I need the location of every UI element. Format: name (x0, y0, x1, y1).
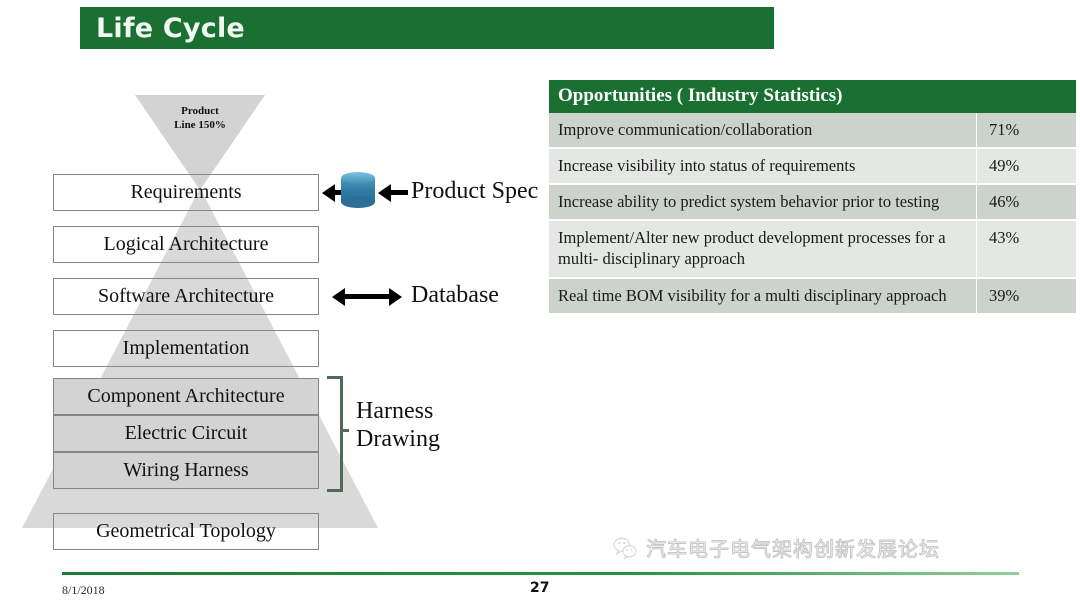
lifecycle-box-wiring-harness[interactable]: Wiring Harness (53, 452, 319, 489)
table-row[interactable]: Increase visibility into status of requi… (549, 148, 1076, 184)
table-cell-value: 43% (977, 220, 1077, 277)
slide-title-bar: Life Cycle (80, 7, 774, 49)
harness-drawing-label: Harness Drawing (356, 397, 440, 454)
lifecycle-box-component-architecture[interactable]: Component Architecture (53, 378, 319, 415)
harness-drawing-line1: Harness (356, 397, 440, 425)
opportunities-table: Opportunities ( Industry Statistics) Imp… (549, 80, 1076, 315)
arrow-double-right-head-icon (389, 288, 402, 306)
table-header-title: Opportunities ( Industry Statistics) (549, 80, 1076, 113)
database-label: Database (411, 281, 499, 309)
harness-drawing-line2: Drawing (356, 425, 440, 453)
table-header-row: Opportunities ( Industry Statistics) (549, 80, 1076, 113)
lifecycle-box-geometrical-topology[interactable]: Geometrical Topology (53, 513, 319, 550)
product-line-label-line2: Line 150% (140, 119, 260, 133)
table-cell-text: Improve communication/collaboration (549, 113, 977, 148)
watermark: 汽车电子电气架构创新发展论坛 (612, 533, 940, 562)
footer-date: 8/1/2018 (62, 583, 105, 598)
arrow-left-icon (322, 184, 335, 202)
lifecycle-box-electric-circuit[interactable]: Electric Circuit (53, 415, 319, 452)
wechat-logo-icon (612, 535, 638, 561)
harness-bracket (327, 376, 343, 492)
table-row[interactable]: Implement/Alter new product development … (549, 220, 1076, 277)
arrow-double-shaft (344, 294, 390, 299)
footer-divider (62, 572, 1019, 575)
database-cylinder-bottom (341, 196, 375, 208)
product-line-label: Product Line 150% (140, 105, 260, 133)
database-cylinder-top (341, 172, 375, 184)
table-row[interactable]: Improve communication/collaboration 71% (549, 113, 1076, 148)
lifecycle-box-requirements[interactable]: Requirements (53, 174, 319, 211)
table-cell-text: Increase ability to predict system behav… (549, 184, 977, 220)
table-cell-text: Real time BOM visibility for a multi dis… (549, 278, 977, 314)
arrow-left-icon-2 (378, 184, 391, 202)
watermark-text: 汽车电子电气架构创新发展论坛 (646, 533, 940, 562)
lifecycle-box-logical-architecture[interactable]: Logical Architecture (53, 226, 319, 263)
life-cycle-diagram: Product Line 150% Requirements Logical A… (0, 60, 540, 560)
table-row[interactable]: Increase ability to predict system behav… (549, 184, 1076, 220)
lifecycle-box-implementation[interactable]: Implementation (53, 330, 319, 367)
page-title: Life Cycle (80, 13, 245, 44)
harness-bracket-nub (340, 429, 349, 432)
table-cell-value: 71% (977, 113, 1077, 148)
table-cell-text: Increase visibility into status of requi… (549, 148, 977, 184)
table-cell-value: 49% (977, 148, 1077, 184)
lifecycle-box-software-architecture[interactable]: Software Architecture (53, 278, 319, 315)
slide-canvas: Life Cycle Product Line 150% Requirement… (0, 0, 1080, 608)
arrow-left-shaft-2 (391, 190, 408, 195)
table-cell-value: 39% (977, 278, 1077, 314)
table-cell-value: 46% (977, 184, 1077, 220)
product-spec-label: Product Spec (411, 177, 538, 205)
table-cell-text: Implement/Alter new product development … (549, 220, 977, 277)
product-line-label-line1: Product (140, 105, 260, 119)
footer-page-number: 27 (530, 580, 549, 596)
database-cylinder-icon (341, 172, 375, 208)
table-row[interactable]: Real time BOM visibility for a multi dis… (549, 278, 1076, 314)
